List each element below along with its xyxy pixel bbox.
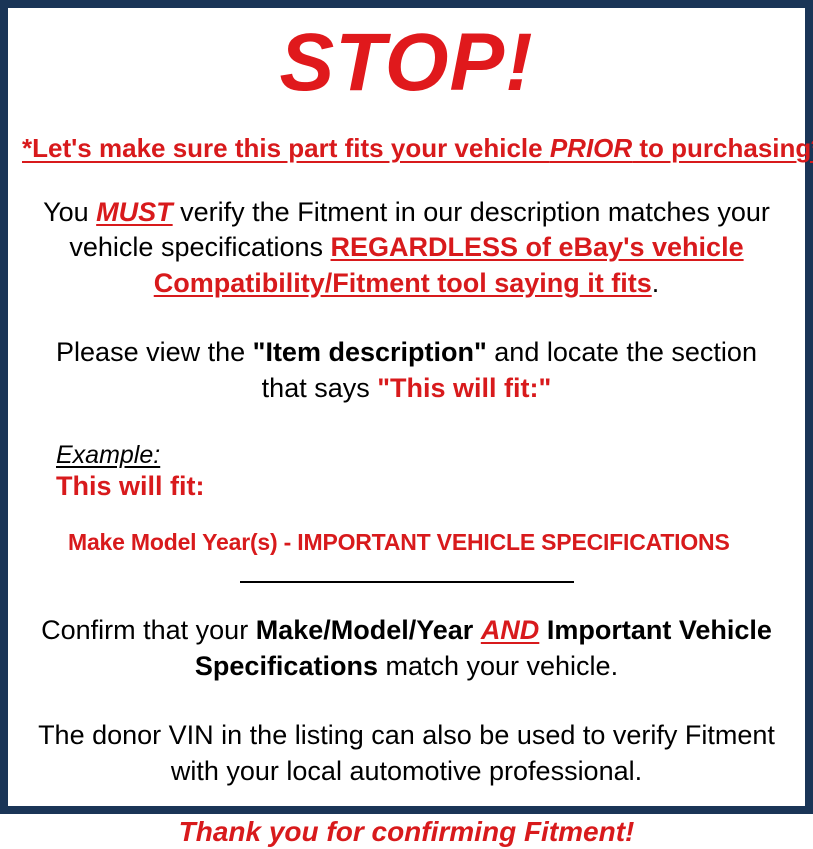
- confirm-seg1: Confirm that your: [41, 615, 256, 645]
- desc-seg1: Please view the: [56, 337, 253, 367]
- example-label: Example:: [56, 441, 791, 470]
- paragraph-item-description: Please view the "Item description" and l…: [22, 335, 791, 406]
- make-model-year-emphasis: Make/Model/Year: [256, 615, 474, 645]
- example-spec-line: Make Model Year(s) - IMPORTANT VEHICLE S…: [56, 529, 791, 555]
- section-divider-wrap: [22, 581, 791, 583]
- confirm-seg2: [473, 615, 481, 645]
- must-seg3: .: [652, 268, 660, 298]
- subtitle-prior-emphasis: PRIOR: [550, 133, 632, 163]
- must-emphasis: MUST: [96, 197, 173, 227]
- paragraph-donor-vin: The donor VIN in the listing can also be…: [22, 718, 791, 789]
- example-fits-heading: This will fit:: [56, 471, 791, 502]
- subtitle-tail-text: to purchasing*: [632, 133, 813, 163]
- item-description-emphasis: "Item description": [253, 337, 487, 367]
- paragraph-must-verify: You MUST verify the Fitment in our descr…: [22, 195, 791, 302]
- fitment-subtitle: *Let's make sure this part fits your veh…: [22, 134, 791, 163]
- and-emphasis: AND: [481, 615, 540, 645]
- paragraph-confirm-match: Confirm that your Make/Model/Year AND Im…: [22, 613, 791, 684]
- closing-thank-you: Thank you for confirming Fitment!: [22, 815, 791, 849]
- must-seg1: You: [43, 197, 96, 227]
- example-block: Example: This will fit: Make Model Year(…: [22, 441, 791, 555]
- section-divider: [240, 581, 574, 583]
- this-will-fit-emphasis: "This will fit:": [377, 373, 551, 403]
- fitment-notice-card: STOP! *Let's make sure this part fits yo…: [0, 0, 813, 814]
- confirm-seg3: [539, 615, 547, 645]
- stop-headline: STOP!: [22, 22, 791, 104]
- subtitle-lead-text: *Let's make sure this part fits your veh…: [22, 133, 550, 163]
- confirm-seg4: match your vehicle.: [378, 651, 618, 681]
